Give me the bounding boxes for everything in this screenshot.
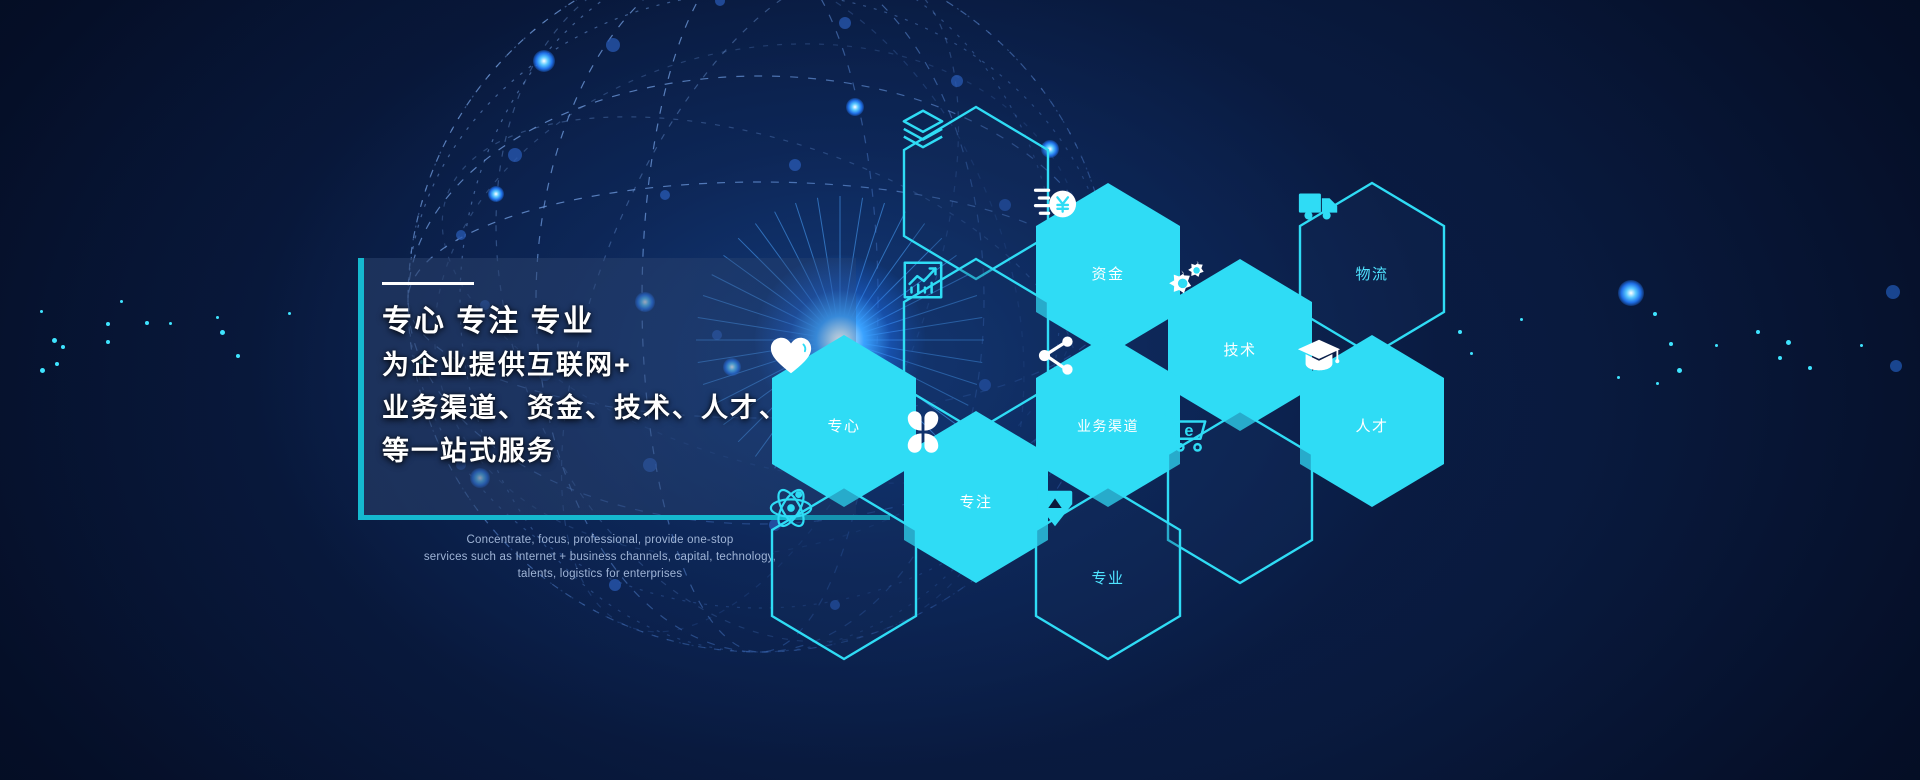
- hexagon-label: 物流: [1355, 263, 1388, 284]
- hexagon-analytics[interactable]: [900, 257, 1052, 433]
- truck-icon: [1296, 181, 1342, 227]
- hexagon-layers[interactable]: [900, 105, 1052, 281]
- heart-icon: [768, 333, 814, 379]
- hexagon-innovation[interactable]: [768, 485, 920, 661]
- hexagon-capital[interactable]: 资金: [1032, 181, 1184, 357]
- english-line-1: Concentrate, focus, professional, provid…: [400, 532, 800, 549]
- atom-icon: [768, 485, 814, 531]
- hexagon-ecommerce[interactable]: e: [1164, 409, 1316, 585]
- money-yen-icon: [1032, 181, 1078, 227]
- english-line-2: services such as Internet + business cha…: [400, 549, 800, 566]
- svg-text:e: e: [1184, 422, 1193, 440]
- hexagon-grid: 资金 物流: [900, 105, 1920, 665]
- english-subtitle: Concentrate, focus, professional, provid…: [400, 532, 800, 583]
- hexagon-dedication[interactable]: 专心: [768, 333, 920, 509]
- hexagon-talent[interactable]: 人才: [1296, 333, 1448, 509]
- hexagon-label: 专注: [959, 491, 992, 512]
- hexagon-business-channels[interactable]: 业务渠道: [1032, 333, 1184, 509]
- headline-rule: [382, 282, 474, 285]
- clover-icon: [900, 409, 946, 455]
- hexagon-label: 业务渠道: [1077, 416, 1139, 436]
- hexagon-professional[interactable]: 专业: [1032, 485, 1184, 661]
- graduation-cap-icon: [1296, 333, 1342, 379]
- hexagon-logistics[interactable]: 物流: [1296, 181, 1448, 357]
- english-line-3: talents, logistics for enterprises: [400, 566, 800, 583]
- hexagon-technology[interactable]: 技术: [1164, 257, 1316, 433]
- layers-icon: [900, 105, 946, 151]
- hexagon-focus[interactable]: 专注: [900, 409, 1052, 585]
- cart-e-icon: e: [1164, 409, 1210, 455]
- hexagon-label: 资金: [1091, 263, 1124, 284]
- gears-icon: [1164, 257, 1210, 303]
- share-nodes-icon: [1032, 333, 1078, 379]
- hexagon-label: 专心: [827, 415, 860, 436]
- hexagon-label: 专业: [1091, 567, 1124, 588]
- banner-stage: 专心 专注 专业 为企业提供互联网+ 业务渠道、资金、技术、人才、物流 等一站式…: [0, 0, 1920, 780]
- chart-growth-icon: [900, 257, 946, 303]
- diamond-icon: [1032, 485, 1078, 531]
- hexagon-label: 人才: [1355, 415, 1388, 436]
- hexagon-label: 技术: [1223, 339, 1256, 360]
